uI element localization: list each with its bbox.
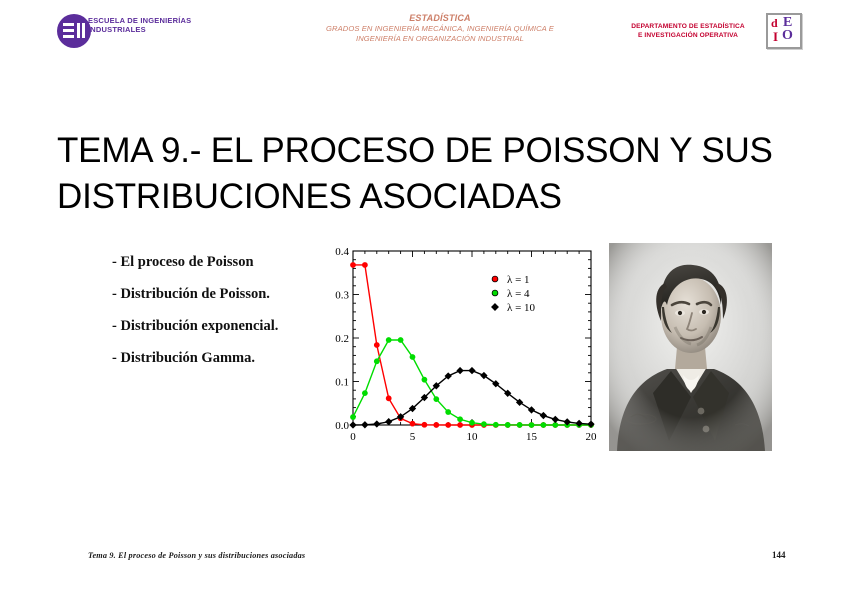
chart-data-point [350, 422, 356, 428]
chart-xtick-label: 0 [350, 431, 356, 443]
chart-data-point [386, 419, 392, 425]
chart-data-point [458, 417, 463, 422]
chart-data-point [434, 397, 439, 402]
poisson-portrait [609, 243, 772, 451]
school-name: ESCUELA DE INGENIERÍAS INDUSTRIALES [88, 17, 191, 34]
chart-data-point [374, 343, 379, 348]
list-item: - Distribución Gamma. [112, 350, 312, 367]
chart-ytick-label: 0.3 [335, 290, 349, 302]
chart-data-point [362, 262, 367, 267]
chart-ytick-label: 0.0 [335, 420, 349, 432]
chart-data-point [398, 338, 403, 343]
chart-data-point [410, 421, 415, 426]
chart-ytick-label: 0.1 [335, 377, 349, 389]
chart-data-point [469, 367, 475, 373]
chart-data-point [386, 338, 391, 343]
deio-letter-d: d [771, 17, 778, 29]
legend-marker [492, 304, 499, 311]
footer-text: Tema 9. El proceso de Poisson y sus dist… [88, 551, 305, 560]
chart-data-point [540, 412, 546, 418]
list-item: - Distribución exponencial. [112, 318, 312, 335]
chart-data-point [552, 416, 558, 422]
school-name-line2: INDUSTRIALES [88, 26, 191, 35]
chart-data-point [386, 396, 391, 401]
deio-letter-o: O [782, 29, 793, 43]
eii-logo-bar [82, 23, 85, 38]
department-name-line2: E INVESTIGACIÓN OPERATIVA [618, 31, 758, 40]
chart-data-point [410, 355, 415, 360]
poisson-pmf-chart: 051015200.00.10.20.30.4λ = 1λ = 4λ = 10 [323, 243, 598, 448]
chart-xtick-label: 5 [410, 431, 416, 443]
chart-data-point [505, 422, 510, 427]
course-subtitle-line1: GRADOS EN INGENIERÍA MECÁNICA, INGENIERÍ… [270, 24, 610, 34]
chart-data-point [493, 422, 498, 427]
chart-series-line [353, 340, 591, 425]
eii-logo-bar [63, 35, 74, 38]
deio-logo: d E I O [766, 13, 802, 49]
deio-letter-i: I [773, 30, 778, 43]
eii-logo-bar [63, 23, 74, 26]
eii-logo-bar [77, 23, 80, 38]
chart-data-point [422, 422, 427, 427]
course-title: ESTADÍSTICA [270, 13, 610, 23]
chart-data-point [374, 421, 380, 427]
chart-data-point [351, 415, 356, 420]
chart-data-point [374, 359, 379, 364]
course-header: ESTADÍSTICA GRADOS EN INGENIERÍA MECÁNIC… [270, 13, 610, 44]
page-title: TEMA 9.- EL PROCESO DE POISSON Y SUS DIS… [57, 128, 787, 220]
chart-ytick-label: 0.2 [335, 333, 349, 345]
chart-data-point [541, 423, 546, 428]
slide-header: ESCUELA DE INGENIERÍAS INDUSTRIALES ESTA… [0, 0, 848, 58]
chart-data-point [517, 422, 522, 427]
chart-data-point [362, 391, 367, 396]
chart-data-point [351, 262, 356, 267]
list-item: - Distribución de Poisson. [112, 286, 312, 303]
bullet-list: - El proceso de Poisson - Distribución d… [112, 254, 312, 382]
legend-marker [492, 290, 498, 296]
chart-xtick-label: 10 [467, 431, 479, 443]
list-item: - El proceso de Poisson [112, 254, 312, 271]
chart-data-point [446, 410, 451, 415]
chart-data-point [457, 367, 463, 373]
chart-data-point [481, 422, 486, 427]
page-number: 144 [772, 550, 786, 560]
chart-data-point [446, 423, 451, 428]
chart-canvas: 051015200.00.10.20.30.4λ = 1λ = 4λ = 10 [323, 243, 598, 448]
legend-marker [492, 276, 498, 282]
legend-label: λ = 1 [507, 274, 530, 286]
chart-xtick-label: 20 [586, 431, 598, 443]
chart-data-point [458, 423, 463, 428]
chart-data-point [434, 422, 439, 427]
legend-label: λ = 4 [507, 288, 530, 300]
legend-label: λ = 10 [507, 302, 536, 314]
department-name: DEPARTAMENTO DE ESTADÍSTICA E INVESTIGAC… [618, 22, 758, 40]
chart-data-point [529, 423, 534, 428]
department-name-line1: DEPARTAMENTO DE ESTADÍSTICA [618, 22, 758, 31]
eii-logo-bar [63, 29, 74, 32]
chart-data-point [470, 420, 475, 425]
chart-data-point [422, 377, 427, 382]
course-subtitle-line2: INGENIERÍA EN ORGANIZACIÓN INDUSTRIAL [270, 34, 610, 44]
chart-data-point [362, 422, 368, 428]
chart-data-point [553, 423, 558, 428]
chart-xtick-label: 15 [526, 431, 538, 443]
chart-ytick-label: 0.4 [335, 246, 349, 258]
